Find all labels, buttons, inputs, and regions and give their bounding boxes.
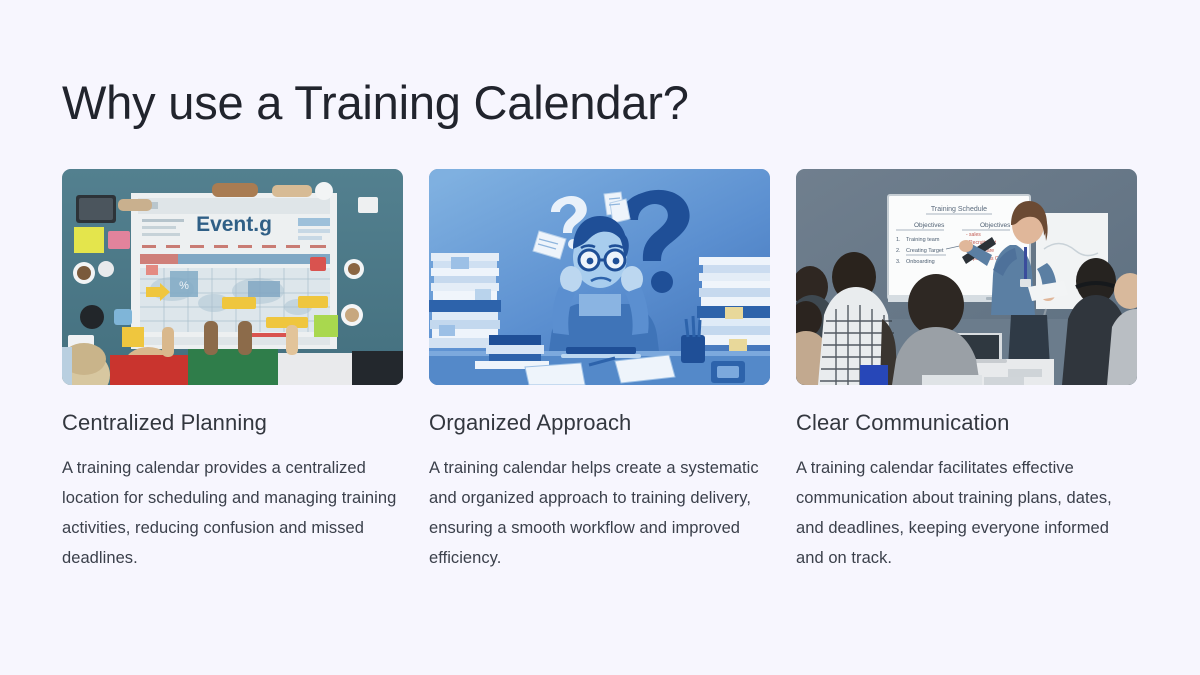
feature-card-centralized-planning: Event.g — [62, 169, 403, 573]
svg-text:Training team: Training team — [906, 237, 940, 243]
feature-card-clear-communication: Training Schedule Objectives Objectives … — [796, 169, 1137, 573]
svg-text:Training Schedule: Training Schedule — [931, 206, 987, 213]
page-title: Why use a Training Calendar? — [62, 76, 689, 130]
feature-card-organized-approach: Organized Approach A training calendar h… — [429, 169, 770, 573]
team-around-table-with-event-calendar-photo: Event.g — [62, 169, 403, 385]
card-heading: Organized Approach — [429, 409, 770, 437]
svg-text:3.: 3. — [896, 259, 901, 265]
svg-text:2.: 2. — [896, 248, 901, 254]
card-heading: Clear Communication — [796, 409, 1137, 437]
svg-text:1.: 1. — [896, 237, 901, 243]
svg-text:%: % — [179, 280, 189, 292]
card-body-text: A training calendar facilitates effectiv… — [796, 453, 1137, 573]
svg-text:Creating Target: Creating Target — [906, 248, 944, 254]
confused-person-with-paperwork-illustration — [429, 169, 770, 385]
card-heading: Centralized Planning — [62, 409, 403, 437]
feature-card-grid: Event.g — [62, 169, 1138, 573]
svg-text:- sales: - sales — [966, 232, 981, 238]
svg-text:Objectives: Objectives — [980, 222, 1011, 229]
svg-text:Objectives: Objectives — [914, 222, 945, 229]
trainer-presenting-at-whiteboard-photo: Training Schedule Objectives Objectives … — [796, 169, 1137, 385]
slide-canvas: Why use a Training Calendar? — [0, 0, 1200, 675]
card-body-text: A training calendar helps create a syste… — [429, 453, 770, 573]
card-body-text: A training calendar provides a centraliz… — [62, 453, 403, 573]
svg-text:Onboarding: Onboarding — [906, 259, 935, 265]
svg-text:Event.g: Event.g — [196, 213, 272, 236]
